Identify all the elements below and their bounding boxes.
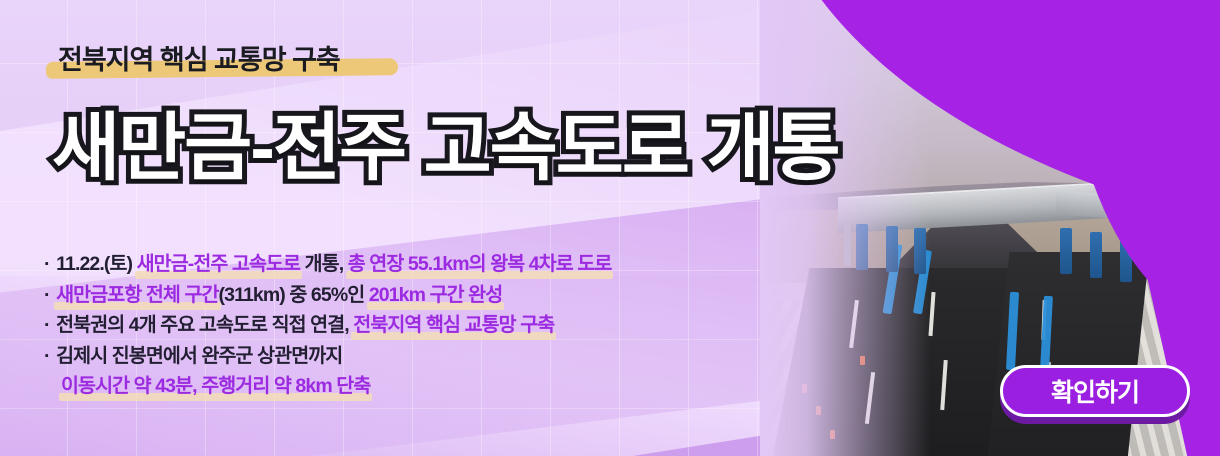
- bullet-text-highlighted: 총 연장 55.1km의 왕복 4차로 도로: [348, 253, 612, 275]
- bullet-text-highlighted: 이동시간 약 43분, 주행거리 약 8km 단축: [61, 375, 370, 397]
- banner-subtitle: 전북지역 핵심 교통망 구축: [58, 38, 340, 77]
- banner-title: 새만금-전주 고속도로 개통: [52, 88, 839, 195]
- bullet-marker: ·: [44, 253, 54, 275]
- bullet-text-highlighted: 201km 구간 완성: [369, 284, 502, 306]
- confirm-button-label: 확인하기: [1051, 373, 1139, 409]
- banner-content: 전북지역 핵심 교통망 구축 새만금-전주 고속도로 개통 · 11.22.(토…: [0, 0, 1220, 456]
- subtitle-block: 전북지역 핵심 교통망 구축: [58, 38, 340, 77]
- bullet-text-highlighted: 새만금포항 전체 구간: [56, 284, 218, 306]
- bullet-text: 개통,: [300, 253, 348, 275]
- bullet-text: (311km) 중 65%인: [219, 284, 369, 306]
- bullet-list: · 11.22.(토) 새만금-전주 고속도로 개통, 총 연장 55.1km의…: [44, 255, 804, 408]
- bullet-text-highlighted: 전북지역 핵심 교통망 구축: [353, 314, 554, 336]
- bullet-line: · 11.22.(토) 새만금-전주 고속도로 개통, 총 연장 55.1km의…: [44, 255, 804, 275]
- bullet-text: 김제시 진봉면에서 완주군 상관면까지: [56, 345, 342, 367]
- bullet-marker: ·: [44, 314, 54, 336]
- promo-banner: 전북지역 핵심 교통망 구축 새만금-전주 고속도로 개통 · 11.22.(토…: [0, 0, 1220, 456]
- bullet-line: · 전북권의 4개 주요 고속도로 직접 연결, 전북지역 핵심 교통망 구축: [44, 316, 804, 336]
- confirm-button[interactable]: 확인하기: [1000, 365, 1190, 417]
- bullet-text: 11.22.(토): [56, 253, 137, 275]
- bullet-marker: ·: [44, 284, 54, 306]
- bullet-marker: ·: [44, 345, 54, 367]
- bullet-line: · 김제시 진봉면에서 완주군 상관면까지: [44, 347, 804, 367]
- bullet-line: · 새만금포항 전체 구간(311km) 중 65%인 201km 구간 완성: [44, 286, 804, 306]
- bullet-text: 전북권의 4개 주요 고속도로 직접 연결,: [56, 314, 353, 336]
- bullet-text-highlighted: 새만금-전주 고속도로: [137, 253, 300, 275]
- bullet-line: 이동시간 약 43분, 주행거리 약 8km 단축: [44, 377, 804, 397]
